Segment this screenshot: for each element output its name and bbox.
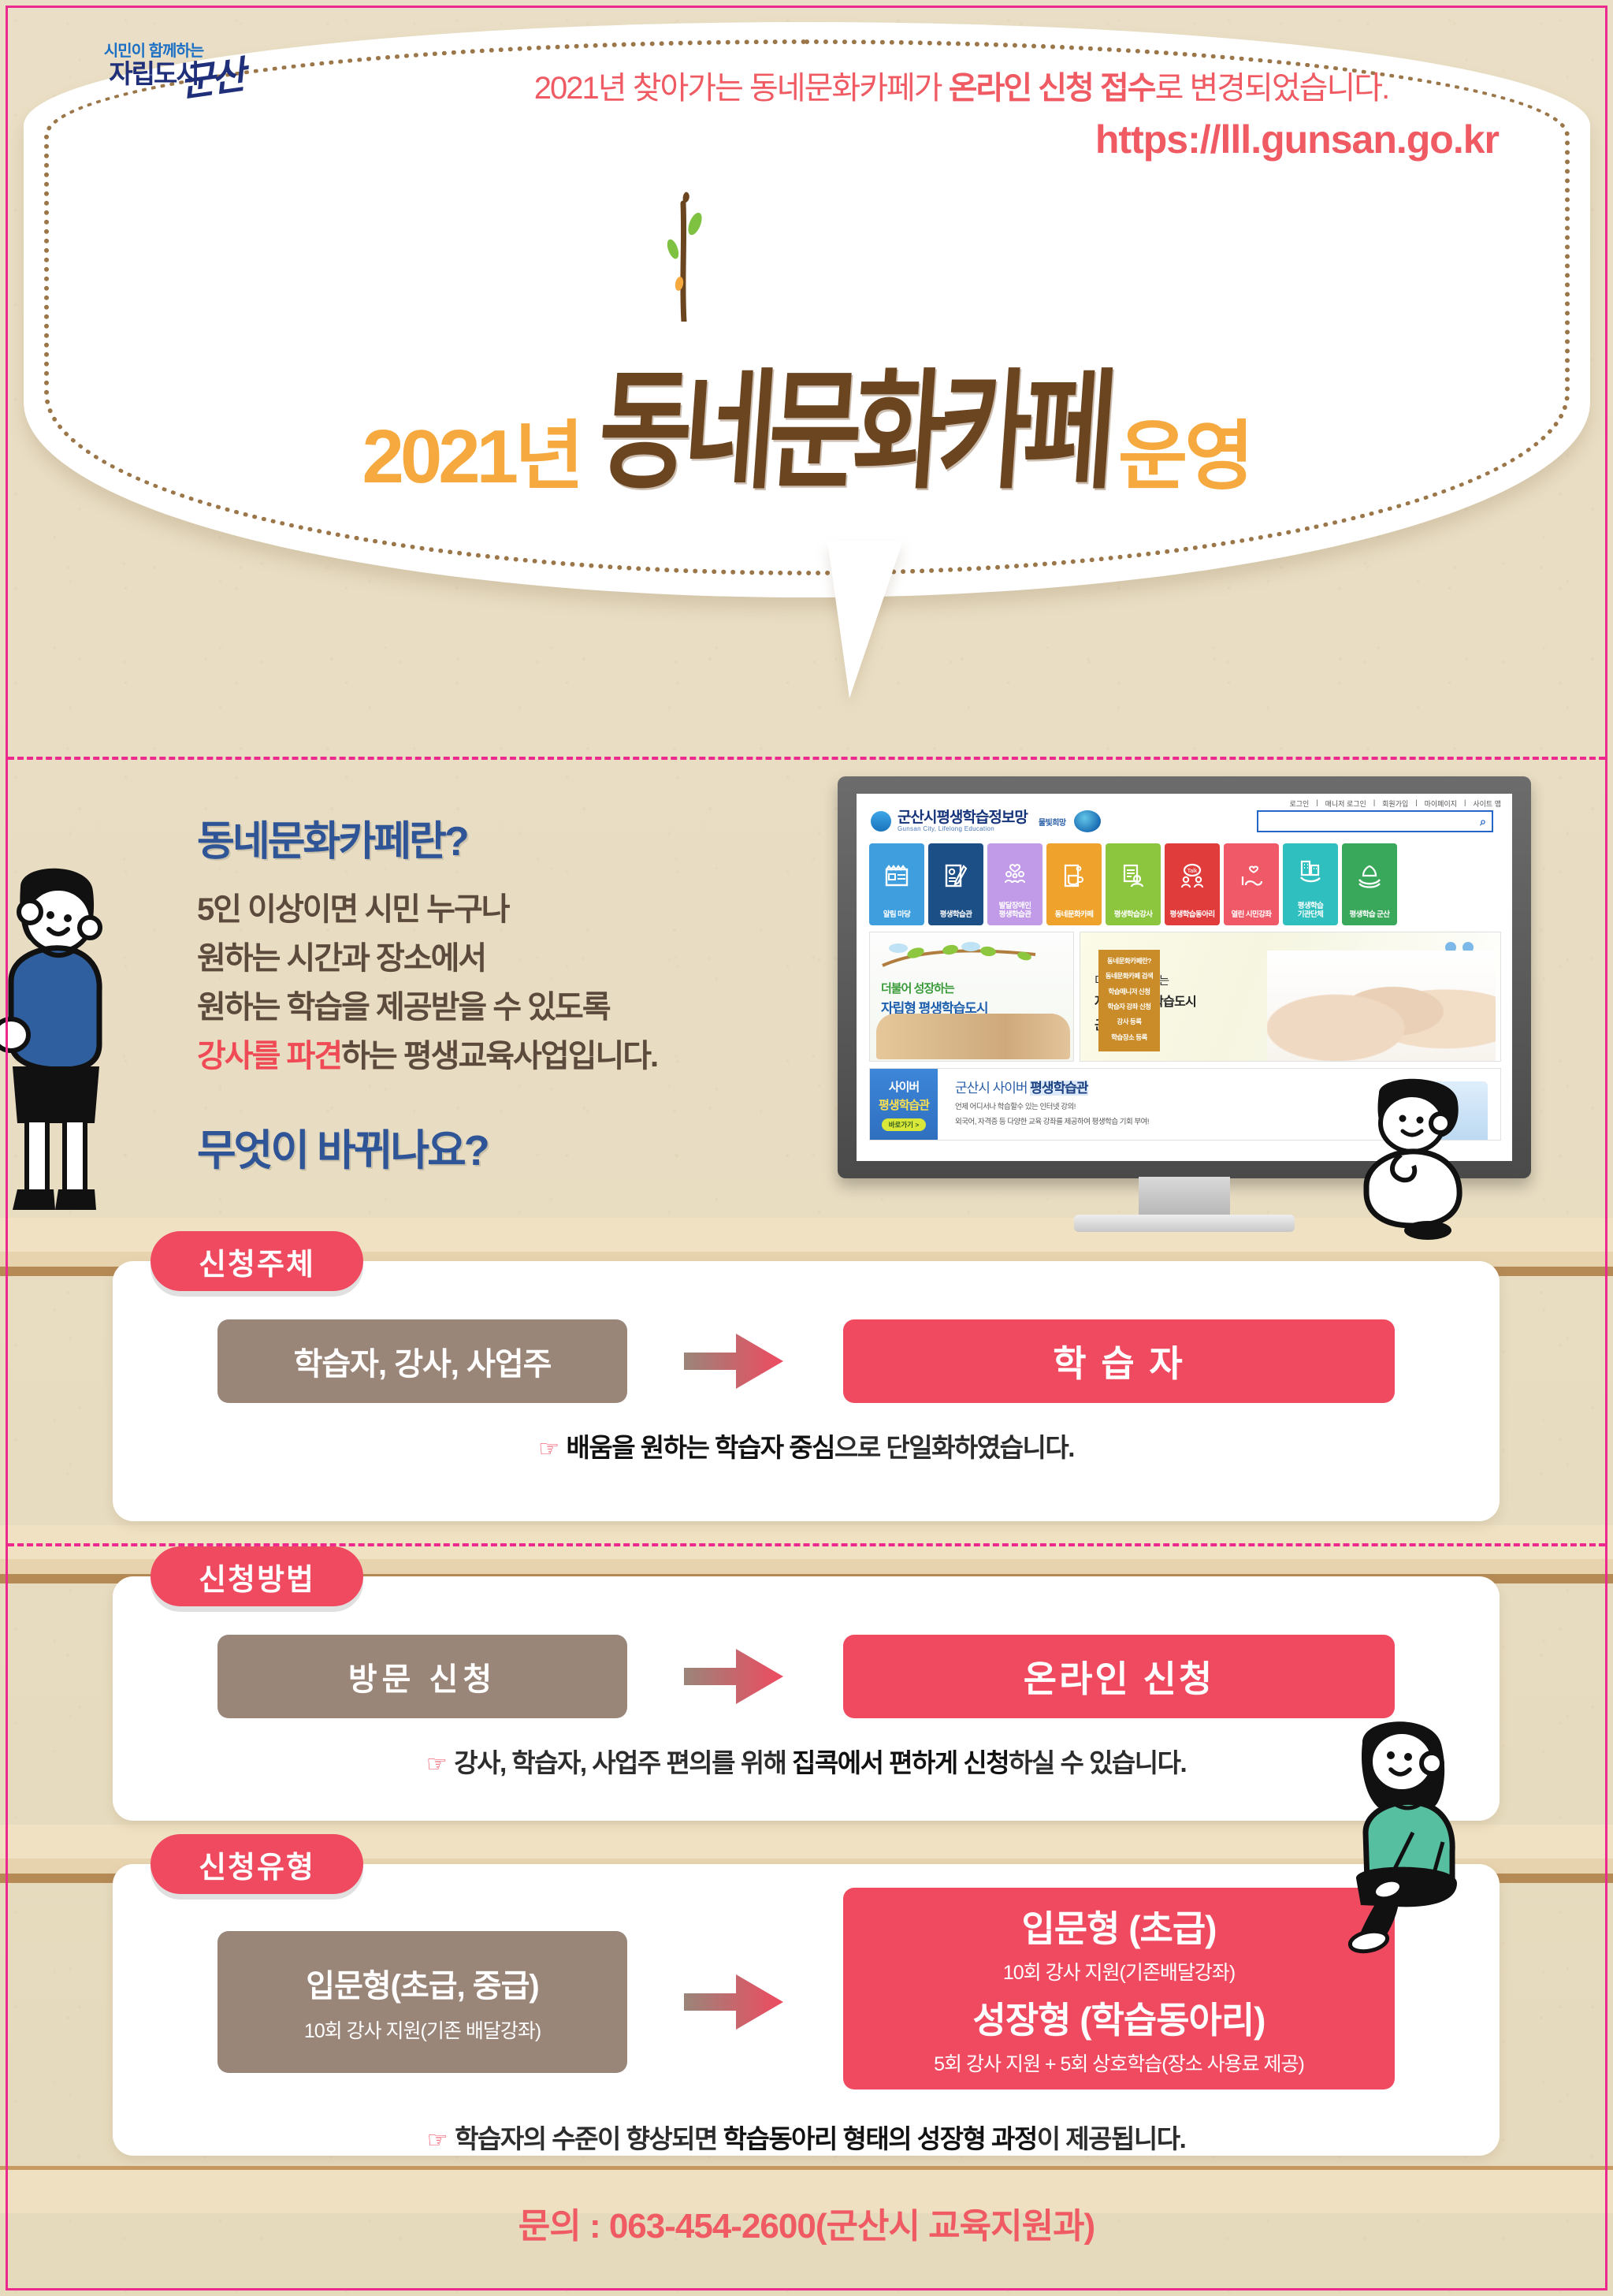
header-notice: 2021년 찾아가는 동네문화카페가 온라인 신청 접수로 변경되었습니다. h… xyxy=(410,69,1513,162)
new-value-main: 온라인 신청 xyxy=(1024,1650,1214,1702)
utility-link-mypage[interactable]: 마이페이지 xyxy=(1425,798,1457,809)
coffee-cup-icon xyxy=(1061,843,1087,908)
nav-label: 동네문화카페 xyxy=(1055,911,1094,920)
transition-arrow-icon xyxy=(684,1967,786,2037)
new-value-box: 학 습 자 xyxy=(843,1319,1395,1403)
nav-tile-neighborhood-cafe[interactable]: 동네문화카페 xyxy=(1046,843,1102,925)
nav-label: 평생학습동아리 xyxy=(1170,911,1215,920)
banner-right-people-photo xyxy=(1267,951,1496,1061)
nav-tile-lifelong-center[interactable]: 평생학습관 xyxy=(928,843,983,925)
card-note-rest: 이 제공됩니다. xyxy=(1037,2124,1186,2153)
nav-tile-notice[interactable]: 알림 마당 xyxy=(869,843,924,925)
card-note-bold: 배움을 원하는 학습자 중심 xyxy=(567,1433,834,1462)
site-search-box[interactable]: ⌕ xyxy=(1257,810,1493,832)
change-card-type: 신청유형 입문형(초급, 중급) 10회 강사 지원(기존 배달강좌) 입문형 … xyxy=(113,1864,1500,2156)
utility-link-sitemap[interactable]: 사이트 맵 xyxy=(1473,798,1501,809)
brand-name-ko: 군산시평생학습정보망 xyxy=(898,810,1028,825)
utility-link-manager-login[interactable]: 매니저 로그인 xyxy=(1325,798,1366,809)
change-card-method: 신청방법 방문 신청 온라인 신청 ☞강사, 학습자, 사업주 편의를 위해 집… xyxy=(113,1576,1500,1821)
brand-seal-icon xyxy=(1074,810,1101,832)
cyber-title-plain: 군산시 사이버 xyxy=(955,1081,1030,1096)
card-flow: 입문형(초급, 중급) 10회 강사 지원(기존 배달강좌) 입문형 (초급) … xyxy=(113,1864,1500,2089)
new-value-sub-2: 5회 강사 지원 + 5회 상호학습(장소 사용료 제공) xyxy=(934,2049,1304,2077)
dropdown-item-about[interactable]: 동네문화카페란? xyxy=(1098,954,1160,969)
svg-text:Talk: Talk xyxy=(1187,869,1198,874)
info-heading: 동네문화카페란? xyxy=(197,820,796,865)
talk-bubble-icon: Talk xyxy=(1179,843,1206,908)
nav-tile-instructor[interactable]: 평생학습강사 xyxy=(1106,843,1161,925)
dropdown-item-instructor-register[interactable]: 강사 등록 xyxy=(1098,1014,1160,1029)
banner-left-people-photo xyxy=(876,1014,1070,1059)
bubble-tail xyxy=(827,541,903,698)
site-brand-header: 군산시평생학습정보망 Gunsan City, Lifelong Educati… xyxy=(857,809,1512,839)
change-card-applicant: 신청주체 학습자, 강사, 사업주 학 습 자 ☞배움을 원하는 학습자 중심으… xyxy=(113,1261,1500,1521)
nav-label: 알림 마당 xyxy=(883,911,911,920)
nav-label: 열린 시민강좌 xyxy=(1232,911,1272,920)
search-icon[interactable]: ⌕ xyxy=(1480,815,1486,828)
old-value-box: 입문형(초급, 중급) 10회 강사 지원(기존 배달강좌) xyxy=(217,1931,627,2073)
cyber-tag-line-2: 평생학습관 xyxy=(879,1096,929,1113)
pointing-hand-icon: ☞ xyxy=(427,2127,447,2153)
old-value-box: 방문 신청 xyxy=(217,1635,627,1718)
old-value-main: 방문 신청 xyxy=(348,1654,496,1699)
hand-heart-icon xyxy=(1239,843,1264,908)
nav-tile-developmental-disability[interactable]: 발달장애인 평생학습관 xyxy=(987,843,1043,925)
logo-brush-mark: 군산 xyxy=(176,44,244,107)
transition-arrow-icon xyxy=(684,1326,786,1397)
info-body-line-2: 원하는 시간과 장소에서 xyxy=(197,934,796,983)
news-icon xyxy=(885,843,909,908)
new-value-main: 학 습 자 xyxy=(1053,1335,1185,1387)
poster-root: 시민이 함께하는 자립도시 군산 2021년 찾아가는 동네문화카페가 온라인 … xyxy=(0,0,1613,2296)
site-banner-row: 더불어 성장하는 자립형 평생학습도시 더불어 성장하는 자립형 평생학습도시 … xyxy=(857,925,1512,1062)
gunsan-city-logo: 시민이 함께하는 자립도시 군산 xyxy=(63,43,244,126)
info-body-line-4-rest: 하는 평생교육사업입니다. xyxy=(341,1039,657,1074)
dropdown-item-manager-apply[interactable]: 학습매니저 신청 xyxy=(1098,984,1160,999)
brand-name-en: Gunsan City, Lifelong Education xyxy=(898,825,1028,832)
hands-city-icon xyxy=(1357,843,1382,908)
new-value-main-2: 성장형 (학습동아리) xyxy=(973,1992,1265,2044)
title-brush-calligraphy: 동네문화카페 xyxy=(594,367,1113,504)
nav-label: 발달장애인 평생학습관 xyxy=(999,902,1031,920)
nav-label: 평생학습관 xyxy=(940,911,972,920)
card-note-bold: 학습동아리 형태의 성장형 과정 xyxy=(723,2124,1037,2153)
notice-part-2: 로 변경되었습니다. xyxy=(1155,71,1389,106)
sprout-decoration xyxy=(660,188,708,322)
card-note: ☞배움을 원하는 학습자 중심으로 단일화하였습니다. xyxy=(113,1403,1500,1491)
old-value-main: 학습자, 강사, 사업주 xyxy=(294,1338,552,1384)
pointing-hand-icon: ☞ xyxy=(426,1751,446,1777)
divider-middle xyxy=(8,1543,1605,1546)
nav-label: 평생학습 군산 xyxy=(1350,911,1390,920)
info-body-line-4: 강사를 파견하는 평생교육사업입니다. xyxy=(197,1032,796,1081)
site-utility-links: 로그인| 매니저 로그인| 회원가입| 마이페이지| 사이트 맵 xyxy=(857,794,1512,809)
new-value-box: 입문형 (초급) 10회 강사 지원(기존배달강좌) 성장형 (학습동아리) 5… xyxy=(843,1888,1395,2089)
title-operation: 운영 xyxy=(1118,419,1251,504)
nav-tile-open-lecture[interactable]: 열린 시민강좌 xyxy=(1224,843,1279,925)
nav-tile-lifelong-gunsan[interactable]: 평생학습 군산 xyxy=(1342,843,1397,925)
transition-arrow-icon xyxy=(684,1641,786,1712)
cyber-goto-button[interactable]: 바로가기 > xyxy=(882,1118,927,1131)
info-heading-2: 무엇이 바뀌나요? xyxy=(197,1115,796,1178)
new-value-main: 입문형 (초급) xyxy=(1021,1900,1216,1952)
old-value-sub: 10회 강사 지원(기존 배달강좌) xyxy=(304,2015,541,2044)
clipboard-person-icon xyxy=(1121,843,1145,908)
notice-emphasis: 온라인 신청 접수 xyxy=(949,71,1155,106)
dropdown-item-venue-register[interactable]: 학습장소 등록 xyxy=(1098,1030,1160,1045)
info-block: 동네문화카페란? 5인 이상이면 시민 누구나 원하는 시간과 장소에서 원하는… xyxy=(197,820,796,1178)
card-note: ☞학습자의 수준이 향상되면 학습동아리 형태의 성장형 과정이 제공됩니다. xyxy=(113,2089,1500,2183)
brand-slogan: 물빛희망 xyxy=(1039,816,1066,828)
contact-line: 문의 : 063-454-2600(군산시 교육지원과) xyxy=(0,2197,1613,2248)
nav-label: 평생학습강사 xyxy=(1114,911,1153,920)
branch-decoration-icon xyxy=(878,942,1067,973)
banner-left-line-1: 더불어 성장하는 xyxy=(881,980,954,996)
info-body: 5인 이상이면 시민 누구나 원하는 시간과 장소에서 원하는 학습을 제공받을… xyxy=(197,885,796,1081)
nav-tile-study-group[interactable]: Talk 평생학습동아리 xyxy=(1165,843,1220,925)
character-thinking-right xyxy=(1330,1076,1488,1241)
card-note-rest: 하실 수 있습니다. xyxy=(1009,1748,1186,1777)
pointing-hand-icon: ☞ xyxy=(538,1436,558,1462)
card-note: ☞강사, 학습자, 사업주 편의를 위해 집콕에서 편하게 신청하실 수 있습니… xyxy=(113,1718,1500,1807)
nav-label: 평생학습 기관단체 xyxy=(1298,902,1324,920)
info-highlight: 강사를 파견 xyxy=(197,1039,341,1074)
utility-link-signup[interactable]: 회원가입 xyxy=(1382,798,1408,809)
poster-main-title: 2021년 동네문화카페 운영 xyxy=(0,300,1613,504)
nav-tile-organizations[interactable]: 평생학습 기관단체 xyxy=(1283,843,1338,925)
site-nav-tiles: 알림 마당 평생학습관 발달장애인 평생학습관 xyxy=(857,839,1512,925)
nav-dropdown-menu: 동네문화카페란? 동네문화카페 검색 학습매니저 신청 학습자 강좌 신청 강사… xyxy=(1098,950,1160,1051)
dropdown-item-search[interactable]: 동네문화카페 검색 xyxy=(1098,969,1160,984)
cyber-tag-line-1: 사이버 xyxy=(889,1078,919,1095)
character-standing-left xyxy=(0,863,147,1234)
dropdown-item-learner-apply[interactable]: 학습자 강좌 신청 xyxy=(1098,999,1160,1014)
building-hand-icon xyxy=(1298,843,1323,899)
monitor-stand-neck xyxy=(1139,1177,1230,1218)
info-body-line-1: 5인 이상이면 시민 누구나 xyxy=(197,885,796,934)
brand-globe-icon xyxy=(871,811,891,832)
banner-left[interactable]: 더불어 성장하는 자립형 평생학습도시 xyxy=(869,932,1074,1062)
title-year: 2021년 xyxy=(362,419,580,504)
card-note-pre: 학습자의 수준이 향상되면 xyxy=(455,2124,723,2153)
cyber-title-bold: 평생학습관 xyxy=(1030,1081,1087,1096)
card-note-pre: 강사, 학습자, 사업주 편의를 위해 xyxy=(454,1748,792,1777)
monitor-stand-base xyxy=(1074,1215,1295,1232)
new-value-sub: 10회 강사 지원(기존배달강좌) xyxy=(1003,1957,1235,1985)
brand-text: 군산시평생학습정보망 Gunsan City, Lifelong Educati… xyxy=(898,810,1028,832)
card-tab-label: 신청유형 xyxy=(151,1834,363,1894)
id-card-icon xyxy=(944,843,968,908)
notice-part-1: 2021년 찾아가는 동네문화카페가 xyxy=(534,71,949,106)
card-tab-label: 신청주체 xyxy=(151,1231,363,1291)
card-tab-label: 신청방법 xyxy=(151,1546,363,1606)
notice-text-line: 2021년 찾아가는 동네문화카페가 온라인 신청 접수로 변경되었습니다. xyxy=(410,69,1513,107)
old-value-main: 입문형(초급, 중급) xyxy=(306,1960,538,2006)
info-body-line-3: 원하는 학습을 제공받을 수 있도록 xyxy=(197,983,796,1032)
divider-top xyxy=(8,757,1605,760)
new-value-box: 온라인 신청 xyxy=(843,1635,1395,1718)
application-url[interactable]: https://lll.gunsan.go.kr xyxy=(410,117,1513,162)
utility-link-login[interactable]: 로그인 xyxy=(1289,798,1309,809)
old-value-box: 학습자, 강사, 사업주 xyxy=(217,1319,627,1403)
card-note-bold: 집콕에서 편하게 신청 xyxy=(792,1748,1009,1777)
cyber-banner-tag: 사이버 평생학습관 바로가기 > xyxy=(870,1069,938,1140)
character-seated-right xyxy=(1334,1714,1515,1959)
card-note-rest: 으로 단일화하였습니다. xyxy=(834,1433,1074,1462)
family-heart-icon xyxy=(1002,843,1028,899)
